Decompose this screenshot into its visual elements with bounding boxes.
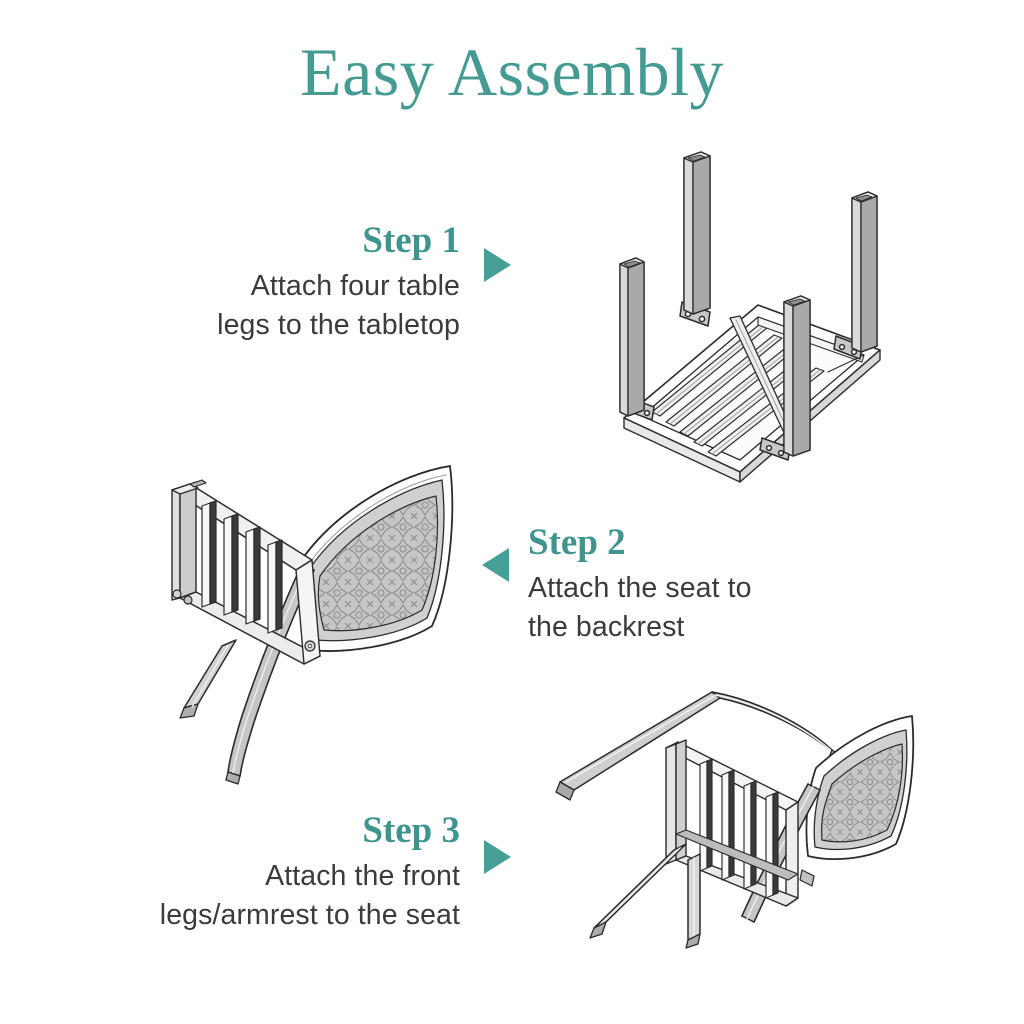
step-1-text-block: Step 1 Attach four table legs to the tab… — [140, 222, 460, 346]
step-3-arrow-right-icon — [484, 840, 511, 874]
step-2-description-line-2: the backrest — [528, 608, 858, 647]
step-1-label: Step 1 — [140, 222, 460, 261]
assembly-infographic: Easy Assembly Step 1 Attach four table l… — [0, 0, 1024, 1024]
step-1-description-line-1: Attach four table — [140, 267, 460, 306]
step-2-label: Step 2 — [528, 524, 858, 563]
chair-armrest-svg — [540, 672, 920, 1012]
step-3-description-line-2: legs/armrest to the seat — [115, 896, 460, 935]
step-1-illustration-table-frame — [590, 150, 910, 490]
table-frame-svg — [590, 150, 910, 490]
step-3-label: Step 3 — [115, 812, 460, 851]
step-1-description-line-2: legs to the tabletop — [140, 306, 460, 345]
step-3-illustration-chair-armrest — [540, 672, 920, 1012]
step-2-description-line-1: Attach the seat to — [528, 569, 858, 608]
step-2-illustration-backrest-seat — [150, 450, 490, 780]
page-title: Easy Assembly — [0, 38, 1024, 106]
backrest-seat-svg — [150, 450, 490, 780]
step-3-description-line-1: Attach the front — [115, 857, 460, 896]
step-1-arrow-right-icon — [484, 248, 511, 282]
step-2-text-block: Step 2 Attach the seat to the backrest — [528, 524, 858, 648]
step-3-text-block: Step 3 Attach the front legs/armrest to … — [115, 812, 460, 936]
